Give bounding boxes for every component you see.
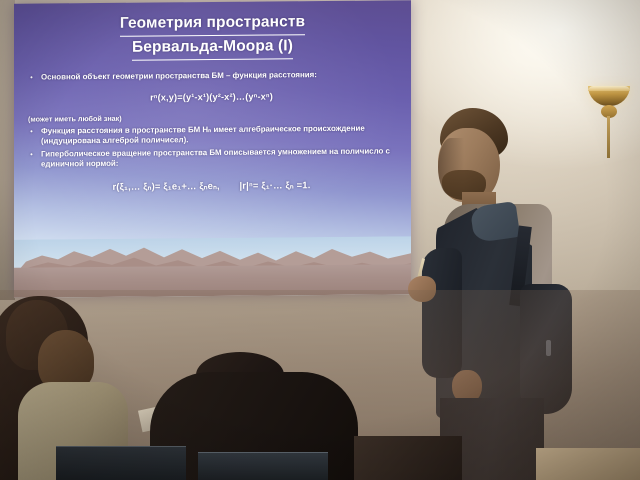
bullet-text: Функция расстояния в пространстве БМ Hₙ … bbox=[41, 123, 395, 147]
slide-title: Геометрия пространств Бервальда-Моора (I… bbox=[14, 0, 411, 61]
laptop-icon bbox=[56, 446, 186, 480]
slide-formula-1: rⁿ(x,y)=(y¹-x¹)(y²-x²)…(yⁿ-xⁿ) bbox=[28, 89, 395, 105]
slide-title-line2: Бервальда-Моора (I) bbox=[132, 35, 293, 60]
desk-edge bbox=[536, 448, 640, 480]
bullet-marker-icon: • bbox=[28, 149, 35, 170]
lecture-room-photo: Геометрия пространств Бервальда-Моора (I… bbox=[0, 0, 640, 480]
slide-title-line1: Геометрия пространств bbox=[120, 11, 305, 37]
sconce-stem bbox=[607, 116, 610, 158]
slide-note: (может иметь любой знак) bbox=[28, 111, 395, 124]
bullet-text: Гиперболическое вращение пространства БМ… bbox=[41, 146, 395, 170]
slide-formula-2: r(ξ₁,… ξₙ)= ξ₁e₁+… ξₙeₙ, |r|ⁿ= ξ₁·… ξₙ =… bbox=[28, 178, 395, 194]
slide-formula-2-left: r(ξ₁,… ξₙ)= ξ₁e₁+… ξₙeₙ, bbox=[112, 180, 219, 192]
bullet-marker-icon: • bbox=[28, 73, 35, 84]
projected-slide[interactable]: Геометрия пространств Бервальда-Моора (I… bbox=[14, 0, 411, 297]
slide-formula-2-right: |r|ⁿ= ξ₁·… ξₙ =1. bbox=[239, 179, 310, 191]
slide-bullet: • Основной объект геометрии пространства… bbox=[28, 69, 395, 83]
wall-sconce-lamp-icon bbox=[588, 86, 632, 166]
slide-content: Геометрия пространств Бервальда-Моора (I… bbox=[14, 0, 411, 297]
bullet-marker-icon: • bbox=[28, 126, 35, 147]
slide-bullet: • Гиперболическое вращение пространства … bbox=[28, 146, 395, 170]
audience-member bbox=[354, 436, 462, 480]
wall-left-edge bbox=[0, 0, 15, 300]
slide-body: • Основной объект геометрии пространства… bbox=[14, 58, 411, 194]
bullet-text: Основной объект геометрии пространства Б… bbox=[41, 69, 395, 83]
laptop-icon bbox=[198, 452, 328, 480]
slide-bullet: • Функция расстояния в пространстве БМ H… bbox=[28, 123, 395, 147]
sconce-bowl bbox=[588, 86, 630, 106]
